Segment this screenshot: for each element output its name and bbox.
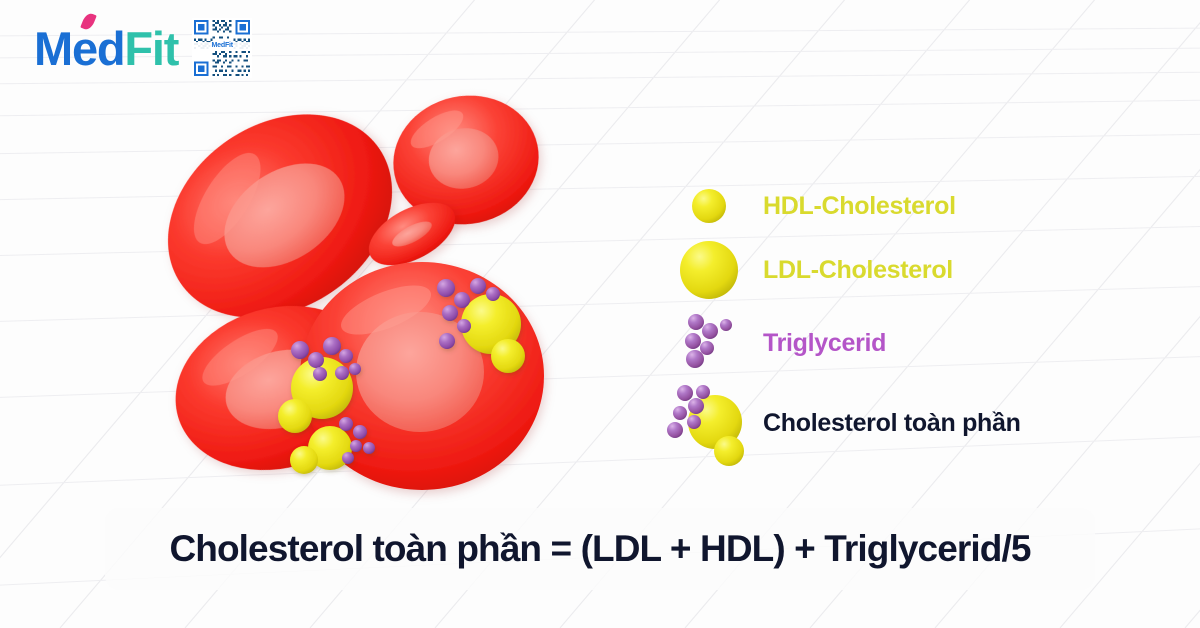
legend-item-total-cholesterol[interactable]: Cholesterol toàn phần: [655, 380, 1175, 466]
formula-band: Cholesterol toàn phần = (LDL + HDL) + Tr…: [105, 508, 1095, 590]
infographic-canvas: MedFit: [0, 0, 1200, 628]
small-yellow-sphere-icon: [655, 187, 763, 225]
legend-label-hdl: HDL-Cholesterol: [763, 192, 956, 221]
formula-text: Cholesterol toàn phần = (LDL + HDL) + Tr…: [169, 528, 1030, 570]
legend-label-total-cholesterol: Cholesterol toàn phần: [763, 409, 1021, 438]
purple-molecule-icon: [655, 310, 763, 376]
legend-item-ldl[interactable]: LDL-Cholesterol: [655, 234, 1175, 306]
qr-code-icon[interactable]: MedFit: [192, 18, 252, 78]
legend: HDL-Cholesterol LDL-Cholest: [655, 178, 1175, 466]
legend-item-triglycerid[interactable]: Triglycerid: [655, 306, 1175, 380]
red-blood-cells-illustration: [150, 88, 610, 508]
legend-label-triglycerid: Triglycerid: [763, 329, 886, 358]
logo-wordmark: MedFit: [34, 25, 178, 72]
legend-label-ldl: LDL-Cholesterol: [763, 256, 953, 285]
logo-text-fit: Fit: [124, 22, 178, 75]
yellow-sphere-with-purple-molecule-icon: [655, 380, 763, 466]
large-yellow-sphere-icon: [655, 239, 763, 301]
legend-item-hdl[interactable]: HDL-Cholesterol: [655, 178, 1175, 234]
logo-text-med: Med: [34, 22, 124, 75]
brand-logo: MedFit: [34, 18, 252, 78]
qr-center-label: MedFit: [192, 42, 252, 49]
